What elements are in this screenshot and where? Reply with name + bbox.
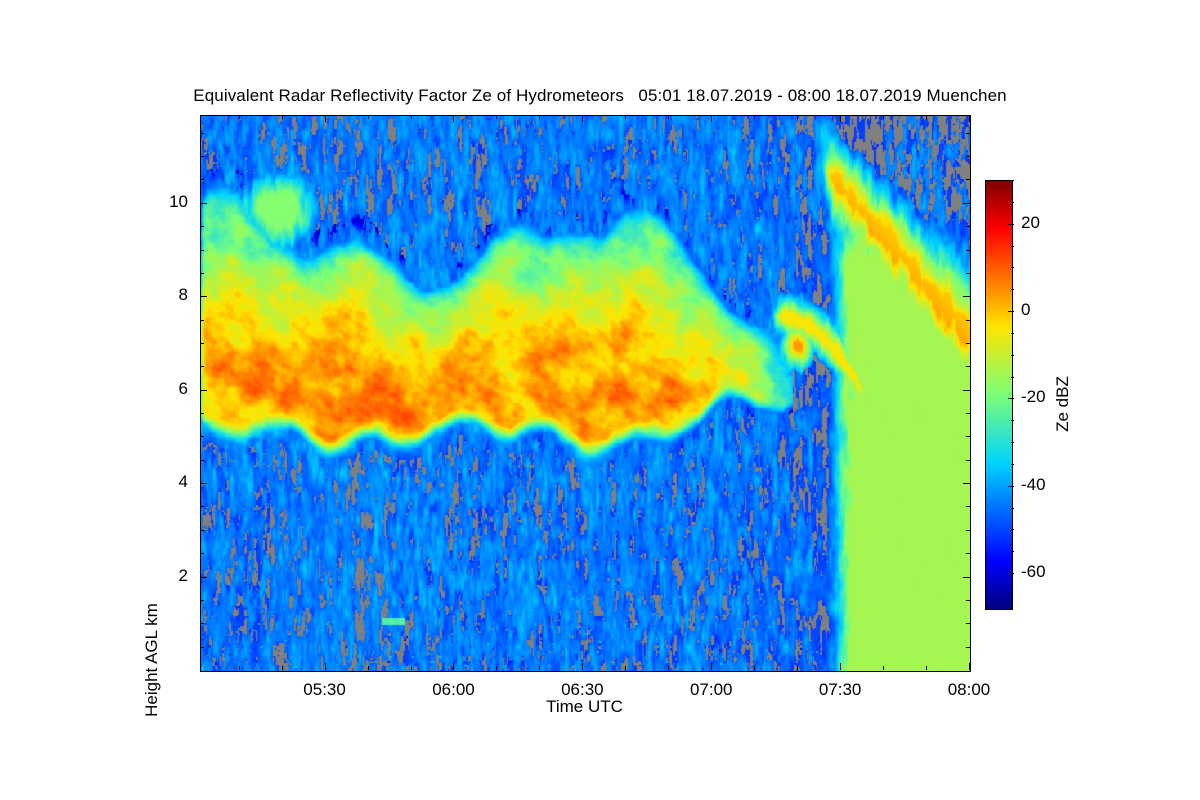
reflectivity-heatmap-canvas xyxy=(201,116,970,671)
y-minor-tick-right xyxy=(966,250,970,251)
y-minor-tick-right xyxy=(966,179,970,180)
colorbar-label: Ze dBZ xyxy=(1053,294,1073,514)
colorbar-tick-label-neg20: -20 xyxy=(1021,387,1046,407)
y-major-tick-right xyxy=(963,203,970,204)
cb-major-tick xyxy=(1008,311,1014,312)
x-minor-tick-top xyxy=(368,115,369,119)
x-minor-tick xyxy=(539,666,540,670)
x-major-tick xyxy=(453,663,454,670)
radar-reflectivity-figure: Equivalent Radar Reflectivity Factor Ze … xyxy=(0,0,1200,800)
y-major-tick xyxy=(200,483,207,484)
y-minor-tick-right xyxy=(966,156,970,157)
x-major-tick xyxy=(840,663,841,670)
y-major-tick-right xyxy=(963,577,970,578)
x-minor-tick-top xyxy=(668,115,669,119)
x-major-tick-top xyxy=(711,115,712,122)
colorbar-tick-label-neg60: -60 xyxy=(1021,562,1046,582)
x-minor-tick xyxy=(797,666,798,670)
y-minor-tick xyxy=(200,647,204,648)
colorbar-tick-label-neg40: -40 xyxy=(1021,475,1046,495)
x-minor-tick-top xyxy=(239,115,240,119)
y-minor-tick-right xyxy=(966,273,970,274)
figure-title: Equivalent Radar Reflectivity Factor Ze … xyxy=(0,86,1200,106)
y-minor-tick-right xyxy=(966,623,970,624)
y-major-tick-right xyxy=(963,296,970,297)
y-minor-tick-right xyxy=(966,530,970,531)
y-minor-tick-right xyxy=(966,506,970,507)
cb-major-tick xyxy=(1008,398,1014,399)
y-axis-label: Height AGL km xyxy=(142,550,162,770)
cb-minor-tick xyxy=(1011,246,1014,247)
cb-minor-tick xyxy=(1011,464,1014,465)
x-minor-tick xyxy=(668,666,669,670)
colorbar-tick-label-0: 0 xyxy=(1021,300,1030,320)
x-minor-tick xyxy=(239,666,240,670)
colorbar-tick-label-20: 20 xyxy=(1021,213,1040,233)
y-minor-tick-right xyxy=(966,436,970,437)
colorbar-canvas xyxy=(986,181,1012,609)
y-major-tick xyxy=(200,203,207,204)
y-minor-tick xyxy=(200,553,204,554)
y-minor-tick-right xyxy=(966,366,970,367)
y-minor-tick xyxy=(200,273,204,274)
y-axis-label-wrap: Height AGL km xyxy=(50,275,270,475)
y-major-tick xyxy=(200,577,207,578)
x-minor-tick-top xyxy=(539,115,540,119)
x-minor-tick-top xyxy=(411,115,412,119)
x-minor-tick-top xyxy=(926,115,927,119)
cb-major-tick xyxy=(1008,486,1014,487)
cb-minor-tick xyxy=(1011,377,1014,378)
y-tick-label-10: 10 xyxy=(130,192,188,212)
y-minor-tick-right xyxy=(966,413,970,414)
x-minor-tick-top xyxy=(625,115,626,119)
y-minor-tick-right xyxy=(966,320,970,321)
y-minor-tick xyxy=(200,506,204,507)
x-minor-tick xyxy=(282,666,283,670)
cb-minor-tick xyxy=(1011,420,1014,421)
x-minor-tick-top xyxy=(282,115,283,119)
x-major-tick xyxy=(582,663,583,670)
plot-area xyxy=(200,115,971,672)
y-minor-tick xyxy=(200,530,204,531)
y-major-tick-right xyxy=(963,390,970,391)
y-minor-tick-right xyxy=(966,460,970,461)
x-minor-tick-top xyxy=(883,115,884,119)
y-minor-tick xyxy=(200,156,204,157)
cb-minor-tick xyxy=(1011,333,1014,334)
x-minor-tick xyxy=(368,666,369,670)
cb-minor-tick xyxy=(1011,180,1014,181)
x-minor-tick xyxy=(926,666,927,670)
x-major-tick-top xyxy=(582,115,583,122)
cb-minor-tick xyxy=(1011,289,1014,290)
y-minor-tick xyxy=(200,250,204,251)
cb-minor-tick xyxy=(1011,202,1014,203)
cb-minor-tick xyxy=(1011,355,1014,356)
y-minor-tick-right xyxy=(966,553,970,554)
y-minor-tick xyxy=(200,226,204,227)
y-minor-tick xyxy=(200,179,204,180)
x-major-tick xyxy=(325,663,326,670)
x-minor-tick xyxy=(754,666,755,670)
x-minor-tick-top xyxy=(754,115,755,119)
colorbar xyxy=(985,180,1013,610)
y-tick-label-4: 4 xyxy=(130,472,188,492)
y-minor-tick-right xyxy=(966,226,970,227)
cb-minor-tick xyxy=(1011,551,1014,552)
y-minor-tick-right xyxy=(966,133,970,134)
x-major-tick-top xyxy=(325,115,326,122)
cb-major-tick xyxy=(1008,224,1014,225)
x-major-tick xyxy=(711,663,712,670)
cb-minor-tick xyxy=(1011,529,1014,530)
y-minor-tick-right xyxy=(966,647,970,648)
x-major-tick xyxy=(969,663,970,670)
x-minor-tick xyxy=(883,666,884,670)
cb-minor-tick xyxy=(1011,508,1014,509)
x-major-tick-top xyxy=(969,115,970,122)
y-minor-tick xyxy=(200,133,204,134)
x-minor-tick xyxy=(625,666,626,670)
y-minor-tick xyxy=(200,623,204,624)
y-minor-tick-right xyxy=(966,343,970,344)
x-major-tick-top xyxy=(453,115,454,122)
cb-minor-tick xyxy=(1011,267,1014,268)
x-axis-label: Time UTC xyxy=(200,697,969,717)
y-minor-tick xyxy=(200,600,204,601)
cb-minor-tick xyxy=(1011,442,1014,443)
y-major-tick-right xyxy=(963,483,970,484)
x-minor-tick-top xyxy=(797,115,798,119)
cb-major-tick xyxy=(1008,573,1014,574)
x-minor-tick xyxy=(411,666,412,670)
x-minor-tick xyxy=(496,666,497,670)
y-minor-tick-right xyxy=(966,600,970,601)
x-minor-tick-top xyxy=(496,115,497,119)
x-major-tick-top xyxy=(840,115,841,122)
